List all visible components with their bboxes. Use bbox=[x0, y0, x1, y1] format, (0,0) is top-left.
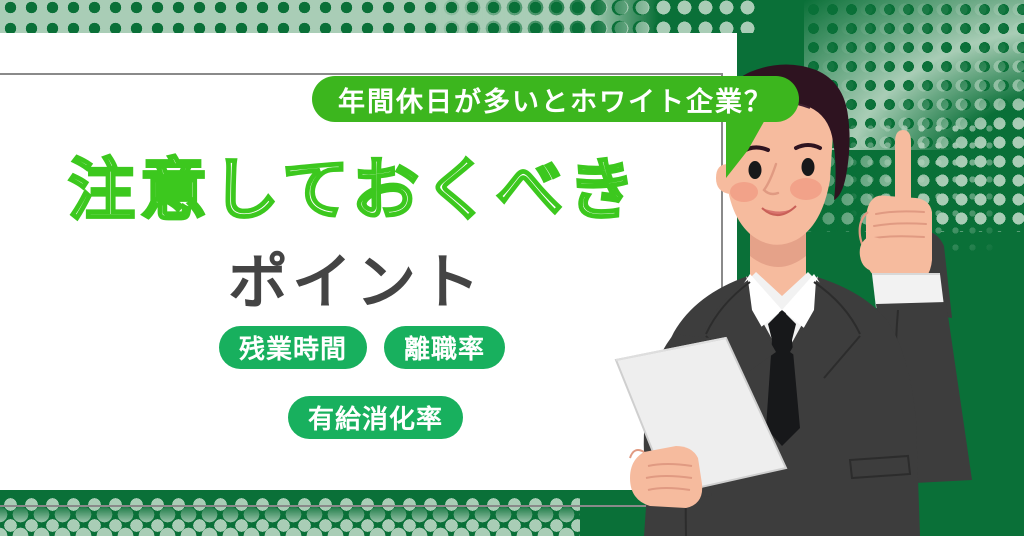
headline-line-1: 注意しておくべき bbox=[68, 136, 640, 233]
tag-row-primary: 残業時間 離職率 bbox=[219, 326, 505, 369]
left-hand bbox=[630, 446, 702, 508]
pointing-hand bbox=[860, 130, 932, 284]
tag-overtime-hours: 残業時間 bbox=[219, 326, 367, 369]
speech-bubble-tail bbox=[726, 118, 766, 178]
speech-bubble: 年間休日が多いとホワイト企業？ bbox=[312, 76, 799, 122]
businessman-svg bbox=[600, 60, 1024, 536]
tag-turnover-rate: 離職率 bbox=[384, 326, 505, 369]
tag-row-secondary: 有給消化率 bbox=[288, 396, 463, 439]
businessman-illustration bbox=[600, 60, 1024, 536]
tag-paid-leave-usage-rate: 有給消化率 bbox=[288, 396, 463, 439]
headline-line-2: ポイント bbox=[228, 234, 484, 321]
banner-canvas: 年間休日が多いとホワイト企業？ 注意しておくべき ポイント 残業時間 離職率 有… bbox=[0, 0, 1024, 536]
speech-bubble-text: 年間休日が多いとホワイト企業？ bbox=[338, 80, 773, 119]
